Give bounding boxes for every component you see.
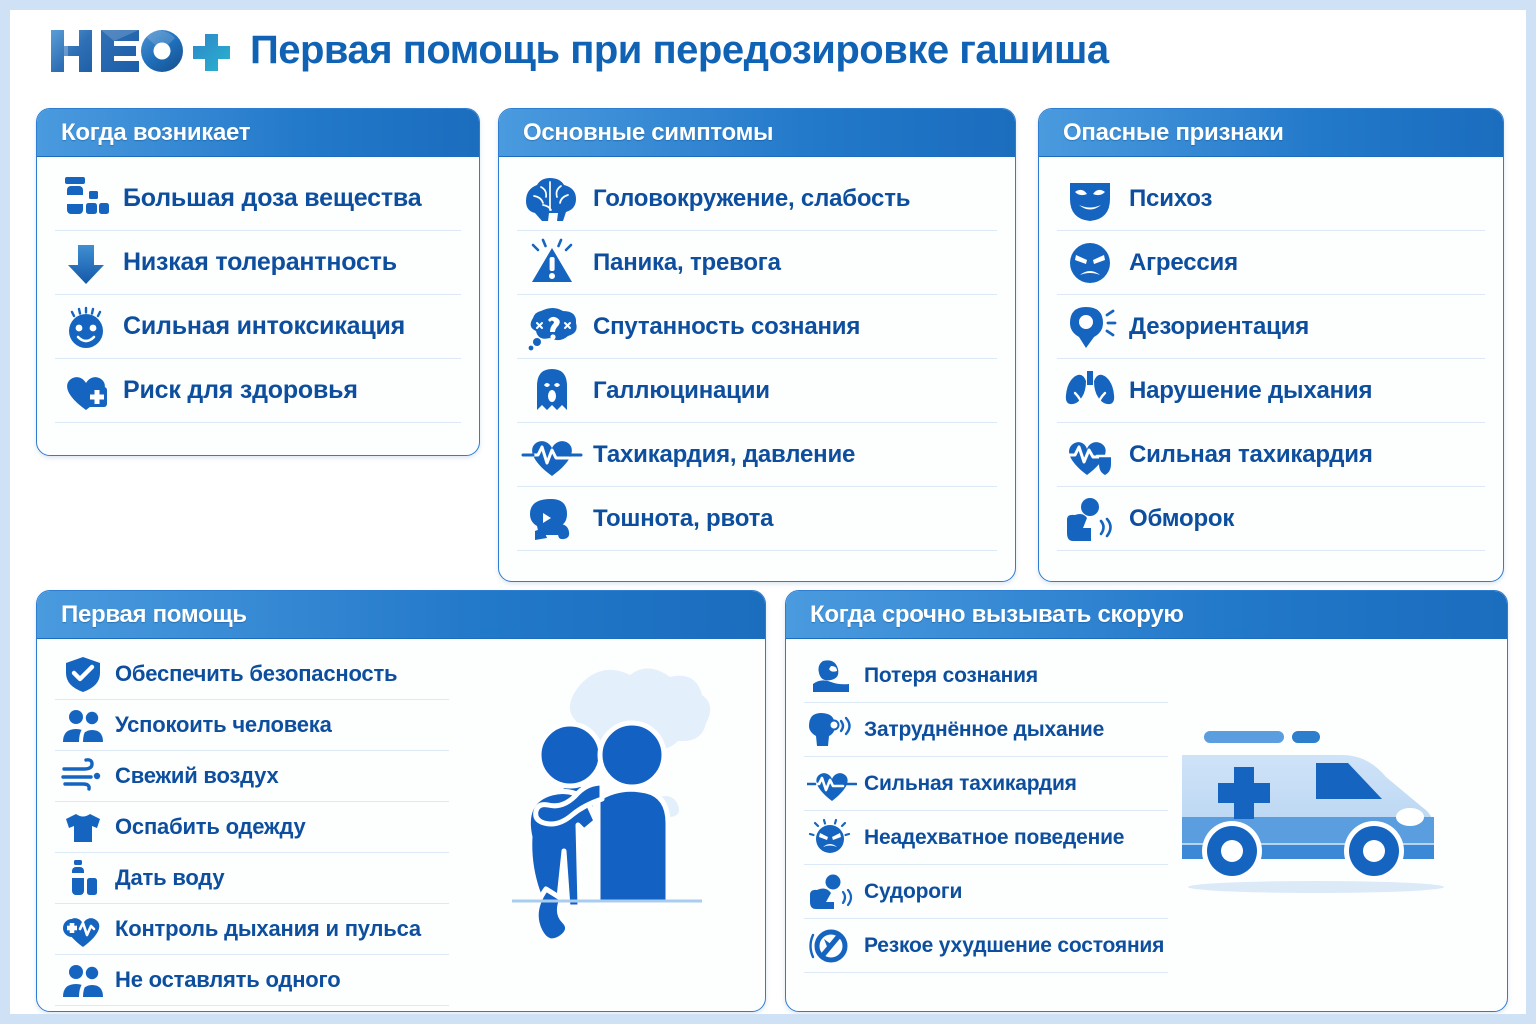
list-item[interactable]: Сильная интоксикация (55, 295, 461, 359)
shield-check-icon (55, 652, 111, 696)
seizure-person-icon (804, 870, 860, 914)
card-body: Потеря сознания Затруднённое дыхание (786, 639, 1186, 981)
brain-head-icon (517, 172, 589, 226)
list-item-label: Успокоить человека (115, 712, 332, 738)
fainting-person-icon (1057, 492, 1123, 546)
list-item-label: Головокружение, слабость (593, 185, 910, 213)
list-item[interactable]: Низкая толерантность (55, 231, 461, 295)
list-item[interactable]: Потеря сознания (804, 649, 1168, 703)
wind-icon (55, 754, 111, 798)
list-item[interactable]: Обеспечить безопасность (55, 649, 449, 700)
list-item-label: Сильная тахикардия (1129, 441, 1373, 469)
list-item[interactable]: Затруднённое дыхание (804, 703, 1168, 757)
card-body: Большая доза вещества Низкая толерантнос… (37, 157, 479, 431)
evil-mask-icon (1057, 172, 1123, 226)
list-item[interactable]: Дать воду (55, 853, 449, 904)
alert-triangle-icon (517, 236, 589, 290)
lungs-icon (1057, 364, 1123, 418)
list-item[interactable]: Оспабить одежду (55, 802, 449, 853)
water-bottle-icon (55, 856, 111, 900)
card-call-ambulance: Когда срочно вызывать скорую Потеря созн… (785, 590, 1508, 1012)
angry-face-icon (1057, 236, 1123, 290)
list-item-label: Тахикардия, давление (593, 441, 855, 469)
list-item[interactable]: Паника, тревога (517, 231, 997, 295)
page-title: Первая помощь при передозировке гашиша (250, 28, 1109, 73)
list-item[interactable]: Судороги (804, 865, 1168, 919)
list-item-label: Затруднённое дыхание (864, 718, 1104, 742)
card-first-aid: Первая помощь Обеспечить безопасность (36, 590, 766, 1012)
card-title: Когда срочно вызывать скорую (810, 601, 1184, 629)
list-item-label: Контроль дыхания и пульса (115, 916, 421, 942)
card-when-occurs: Когда возникает Большая доза вещества (36, 108, 480, 456)
card-danger-signs: Опасные признаки Психоз (1038, 108, 1504, 582)
list-item[interactable]: Большая доза вещества (55, 167, 461, 231)
card-main-symptoms: Основные симптомы Головокружение, слабос… (498, 108, 1016, 582)
list-item-label: Судороги (864, 880, 962, 904)
list-item-label: Риск для здоровья (123, 376, 358, 405)
list-item[interactable]: Головокружение, слабость (517, 167, 997, 231)
list-item[interactable]: Тахикардия, давление (517, 423, 997, 487)
rapid-decline-icon (804, 924, 860, 968)
list-item[interactable]: Резкое ухудшение состояния (804, 919, 1168, 973)
card-header: Первая помощь (37, 591, 765, 639)
list-item[interactable]: Нарушение дыхания (1057, 359, 1485, 423)
list-item[interactable]: Контроль дыхания и пульса (55, 904, 449, 955)
agitated-face-icon (804, 816, 860, 860)
list-item-label: Не оставлять одного (115, 967, 340, 993)
heart-cross-icon (55, 365, 117, 417)
card-body: Психоз Агрессия (1039, 157, 1503, 559)
list-item-label: Свежий воздух (115, 763, 279, 789)
list-item-label: Дать воду (115, 865, 224, 891)
unconscious-person-icon (804, 654, 860, 698)
list-item[interactable]: Тошнота, рвота (517, 487, 997, 551)
heart-pulse-icon (517, 428, 589, 482)
list-item-label: Галлюцинации (593, 377, 770, 405)
card-header: Опасные признаки (1039, 109, 1503, 157)
list-item[interactable]: Не оставлять одного (55, 955, 449, 1006)
list-item-label: Агрессия (1129, 249, 1238, 277)
list-item[interactable]: Сильная тахикардия (1057, 423, 1485, 487)
list-item-label: Обеспечить безопасность (115, 661, 397, 687)
list-item-label: Большая доза вещества (123, 184, 421, 213)
list-item-label: Сильная тахикардия (864, 772, 1077, 796)
card-title: Опасные признаки (1063, 119, 1284, 147)
list-item-label: Паника, тревога (593, 249, 781, 277)
card-title: Первая помощь (61, 601, 247, 629)
down-arrow-icon (55, 237, 117, 289)
list-item-label: Тошнота, рвота (593, 505, 773, 533)
list-item[interactable]: Дезориентация (1057, 295, 1485, 359)
dizzy-face-icon (55, 301, 117, 353)
disoriented-head-icon (1057, 300, 1123, 354)
infographic-page: Первая помощь при передозировке гашиша К… (10, 10, 1526, 1014)
list-item[interactable]: Агрессия (1057, 231, 1485, 295)
neo-plus-logo (45, 22, 235, 84)
card-title: Основные симптомы (523, 119, 773, 147)
list-item-label: Низкая толерантность (123, 248, 397, 277)
page-header: Первая помощь при передозировке гашиша (10, 10, 1526, 100)
heart-cross-pulse-icon (55, 907, 111, 951)
breathing-difficulty-icon (804, 708, 860, 752)
card-body: Обеспечить безопасность Успокоить челове… (37, 639, 467, 1012)
list-item-label: Оспабить одежду (115, 814, 306, 840)
two-people-comforting-illustration (502, 649, 752, 949)
list-item[interactable]: Спутанность сознания (517, 295, 997, 359)
list-item-label: Обморок (1129, 505, 1234, 533)
list-item-label: Резкое ухудшение состояния (864, 934, 1164, 958)
list-item-label: Неадехватное поведение (864, 826, 1124, 850)
list-item[interactable]: Свежий воздух (55, 751, 449, 802)
two-people-icon (55, 958, 111, 1002)
heart-pulse-icon (804, 762, 860, 806)
list-item-label: Сильная интоксикация (123, 312, 405, 341)
list-item[interactable]: Риск для здоровья (55, 359, 461, 423)
list-item[interactable]: Психоз (1057, 167, 1485, 231)
two-people-icon (55, 703, 111, 747)
list-item-label: Спутанность сознания (593, 313, 860, 341)
list-item-label: Потеря сознания (864, 664, 1038, 688)
list-item[interactable]: Успокоить человека (55, 700, 449, 751)
list-item[interactable]: Неадехватное поведение (804, 811, 1168, 865)
card-title: Когда возникает (61, 119, 250, 147)
list-item[interactable]: Сильная тахикардия (804, 757, 1168, 811)
ghost-icon (517, 364, 589, 418)
thought-question-icon (517, 300, 589, 354)
card-header: Когда возникает (37, 109, 479, 157)
card-body: Головокружение, слабость Паника, тревога (499, 157, 1015, 559)
pills-bottle-icon (55, 173, 117, 225)
list-item-label: Нарушение дыхания (1129, 377, 1372, 405)
ambulance-illustration (1156, 711, 1476, 901)
tshirt-icon (55, 805, 111, 849)
list-item[interactable]: Галлюцинации (517, 359, 997, 423)
card-header: Основные симптомы (499, 109, 1015, 157)
list-item-label: Дезориентация (1129, 313, 1309, 341)
list-item[interactable]: Обморок (1057, 487, 1485, 551)
vomiting-head-icon (517, 492, 589, 546)
list-item-label: Психоз (1129, 185, 1212, 213)
heart-pulse-shield-icon (1057, 428, 1123, 482)
card-header: Когда срочно вызывать скорую (786, 591, 1507, 639)
